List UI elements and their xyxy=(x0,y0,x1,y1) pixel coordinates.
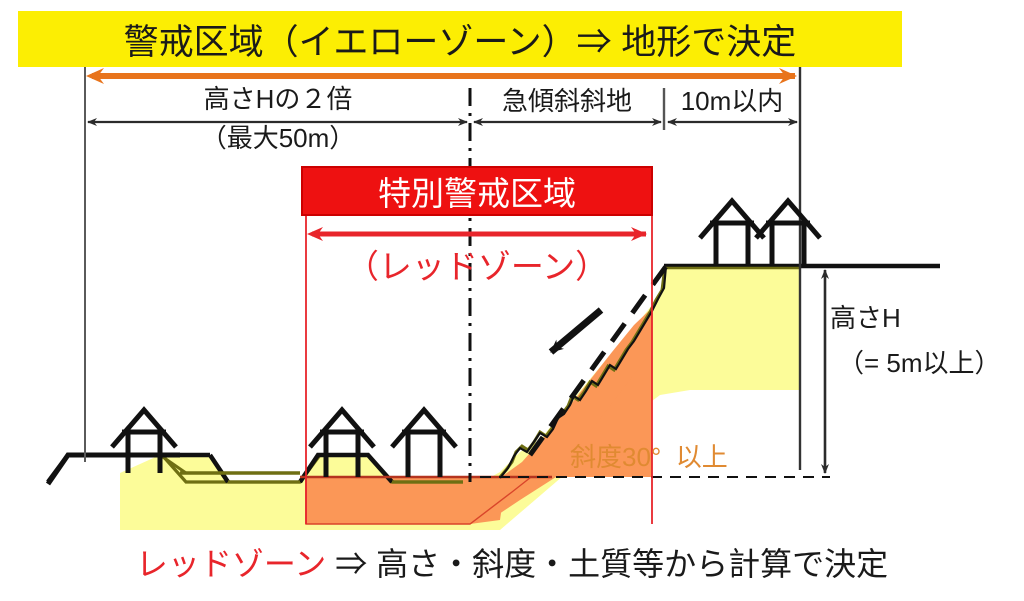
caption-black-part: ⇒ 高さ・斜度・土質等から計算で決定 xyxy=(326,546,888,582)
ground-profile-top xyxy=(664,266,940,268)
dim-label-max-50m: （最大50m） xyxy=(86,125,470,151)
height-label: 高さH xyxy=(830,305,901,331)
diagram-canvas: 警戒区域（イエローゾーン）⇒ 地形で決定 高さHの２倍 （最大50m） 急傾斜斜… xyxy=(0,0,1024,601)
house-icon xyxy=(756,201,820,266)
dim-label-within-10m: 10m以内 xyxy=(664,88,800,114)
red-zone-banner-text: 特別警戒区域 xyxy=(301,166,653,216)
slope-angle-label: 斜度30° 以上 xyxy=(570,444,728,470)
height-note: （= 5m以上） xyxy=(838,350,1001,376)
arrow-down-left-icon xyxy=(551,310,601,352)
bottom-caption: レッドゾーン ⇒ 高さ・斜度・土質等から計算で決定 xyxy=(0,548,1024,580)
house-icon xyxy=(392,410,456,477)
title-text: 警戒区域（イエローゾーン）⇒ 地形で決定 xyxy=(18,11,902,67)
house-icon xyxy=(700,201,764,266)
caption-red-part: レッドゾーン xyxy=(136,546,326,582)
dim-label-steep-slope: 急傾斜斜地 xyxy=(474,88,660,114)
red-zone-subtitle: （レッドゾーン） xyxy=(301,250,653,283)
dim-label-twice-height: 高さHの２倍 xyxy=(86,86,470,112)
